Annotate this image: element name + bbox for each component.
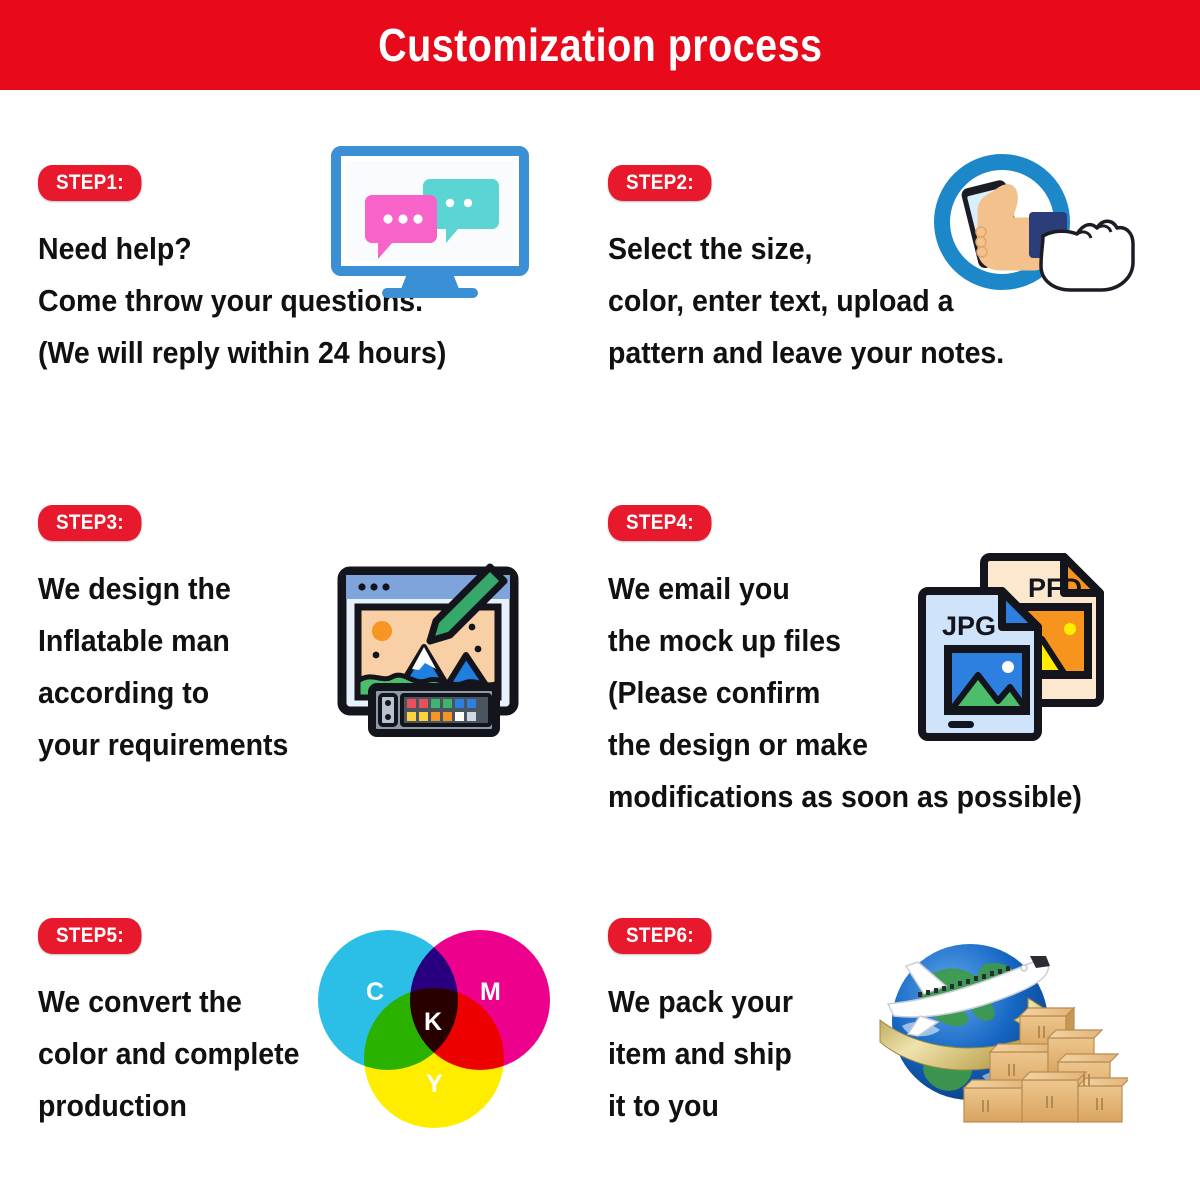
cmyk-label-c: C	[366, 978, 384, 1007]
step-1-line-3: (We will reply within 24 hours)	[38, 327, 446, 379]
step-3-line-4: your requirements	[38, 719, 288, 771]
step-5-line-1: We convert the	[38, 976, 299, 1028]
step-6-line-3: it to you	[608, 1080, 793, 1132]
step-5-badge: STEP5:	[38, 918, 142, 954]
page-title: Customization process	[378, 18, 822, 72]
step-4-badge: STEP4:	[608, 505, 712, 541]
step-3-line-1: We design the	[38, 563, 288, 615]
step-1-badge: STEP1:	[38, 165, 142, 201]
step-6-text: We pack your item and ship it to you	[608, 976, 793, 1132]
globe-shipping-icon	[878, 930, 1128, 1135]
step-3-text: We design the Inflatable man according t…	[38, 563, 288, 771]
file-back-label: PFD	[1028, 573, 1082, 603]
image-files-icon: PFD JPG	[912, 545, 1122, 760]
step-4-line-5: modifications as soon as possible)	[608, 771, 1082, 823]
file-front-label: JPG	[942, 611, 996, 641]
cmyk-label-k: K	[424, 1008, 442, 1037]
step-6: STEP6: We pack your item and ship it to …	[608, 918, 809, 1132]
phone-tap-icon	[925, 150, 1135, 305]
step-3-badge: STEP3:	[38, 505, 142, 541]
step-3: STEP3: We design the Inflatable man acco…	[38, 505, 310, 771]
step-2-badge: STEP2:	[608, 165, 712, 201]
cmyk-venn: C M Y K	[318, 930, 568, 1125]
step-5-line-2: color and complete	[38, 1028, 299, 1080]
header-banner: Customization process	[0, 0, 1200, 90]
step-3-line-2: Inflatable man	[38, 615, 288, 667]
cmyk-venn-icon: C M Y K	[318, 930, 568, 1125]
step-3-line-3: according to	[38, 667, 288, 719]
step-2-line-3: pattern and leave your notes.	[608, 327, 1004, 379]
step-5-line-3: production	[38, 1080, 299, 1132]
steps-container: STEP1: Need help? Come throw your questi…	[0, 90, 1200, 1200]
step-6-line-2: item and ship	[608, 1028, 793, 1080]
cmyk-label-y: Y	[426, 1070, 443, 1099]
design-editor-icon	[332, 545, 532, 750]
cmyk-label-m: M	[480, 978, 501, 1007]
step-5: STEP5: We convert the color and complete…	[38, 918, 322, 1132]
step-5-text: We convert the color and complete produc…	[38, 976, 299, 1132]
monitor-chat-icon	[330, 145, 530, 310]
step-6-line-1: We pack your	[608, 976, 793, 1028]
step-6-badge: STEP6:	[608, 918, 712, 954]
